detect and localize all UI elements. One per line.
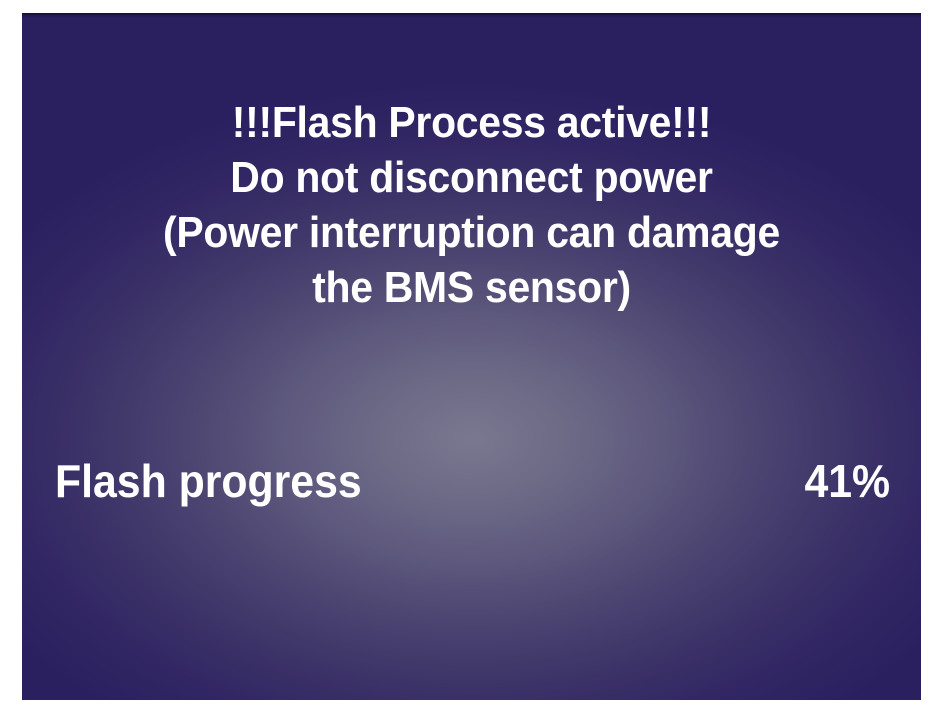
flash-warning-message: !!!Flash Process active!!! Do not discon… [22, 95, 921, 315]
warning-line-title: !!!Flash Process active!!! [53, 95, 889, 150]
warning-line-detail-2: the BMS sensor) [53, 260, 889, 315]
flash-process-screen: !!!Flash Process active!!! Do not discon… [0, 0, 934, 715]
warning-line-detail-1: (Power interruption can damage [53, 205, 889, 260]
flash-progress-percentage: 41% [804, 453, 890, 509]
flash-progress-row: Flash progress 41% [55, 453, 890, 509]
flash-status-panel: !!!Flash Process active!!! Do not discon… [22, 13, 921, 700]
warning-line-instruction: Do not disconnect power [53, 150, 889, 205]
flash-progress-label: Flash progress [55, 453, 362, 509]
panel-top-edge-band [22, 13, 921, 18]
